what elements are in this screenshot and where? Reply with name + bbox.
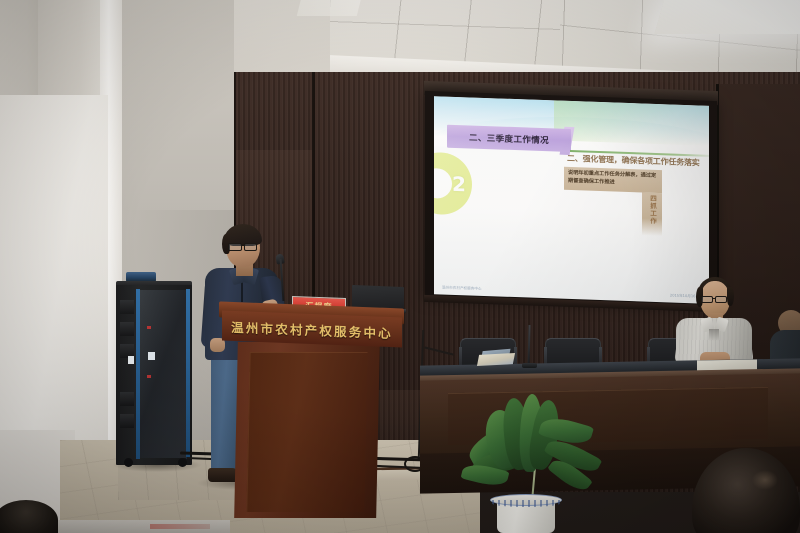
slide-vertical-label-box: 四抓工作 [642,192,662,236]
rack-status-led [147,326,151,329]
slide-banner-text: 二、三季度工作情况 [469,131,549,146]
slide-green-decor [554,100,709,146]
speaker-glasses-bridge [241,245,245,246]
rack-bay [120,300,134,314]
rack-accent-strip-left [136,289,140,459]
ceiling-light-secondary [297,0,363,16]
foreground-attendee-head-highlight [752,470,778,490]
seated-attendee-glasses [715,296,727,303]
documents-on-table[interactable] [477,353,515,366]
rack-indicator-panel [128,356,134,364]
slide-footer-left: 温州市农村产权服务中心 [442,285,482,291]
seated-attendee-hair-side [727,287,734,306]
slide-surface: 2 二、三季度工作情况 二、强化管理，确保各项工作任务落实 说明年初重点工作任务… [434,96,709,304]
plant-pot-pattern [492,500,560,507]
rack-bay [120,392,134,406]
wall-recess-upper [118,0,234,210]
slide-body-box: 说明年初重点工作任务分解表，通过定期督查确保工作推进 [564,167,662,193]
slide-body-text: 说明年初重点工作任务分解表，通过定期督查确保工作推进 [568,170,658,188]
rack-indicator-panel [148,352,155,360]
rack-bay [120,322,134,336]
speaker-glasses [244,243,257,251]
speaker-glasses [228,243,242,251]
rack-bay [120,414,134,428]
speaker-shirt-placket [241,280,243,302]
conference-room-photo: 2 二、三季度工作情况 二、强化管理，确保各项工作任务落实 说明年初重点工作任务… [0,0,800,533]
slide-vertical-label: 四抓工作 [648,195,657,225]
slide-banner: 二、三季度工作情况 [447,125,571,152]
rack-glass-door[interactable] [140,290,188,458]
seated-attendee-shirt-shadow [709,329,719,341]
seated-attendee-glasses-bridge [712,298,716,299]
projection-screen[interactable]: 2 二、三季度工作情况 二、强化管理，确保各项工作任务落实 说明年初重点工作任务… [425,91,717,309]
slide-footer-right: 2015年10月16日 [670,293,699,299]
rack-caster [178,458,187,467]
rack-caster [124,458,133,467]
slide-step-number: 2 [452,172,466,196]
podium-lower-inset-panel [246,352,367,512]
rack-status-led [147,375,151,378]
rack-accent-strip-right [186,289,190,459]
ceiling-light-panel [654,0,800,34]
foreground-surface-accent [150,524,210,529]
table-microphone-base [522,363,537,368]
